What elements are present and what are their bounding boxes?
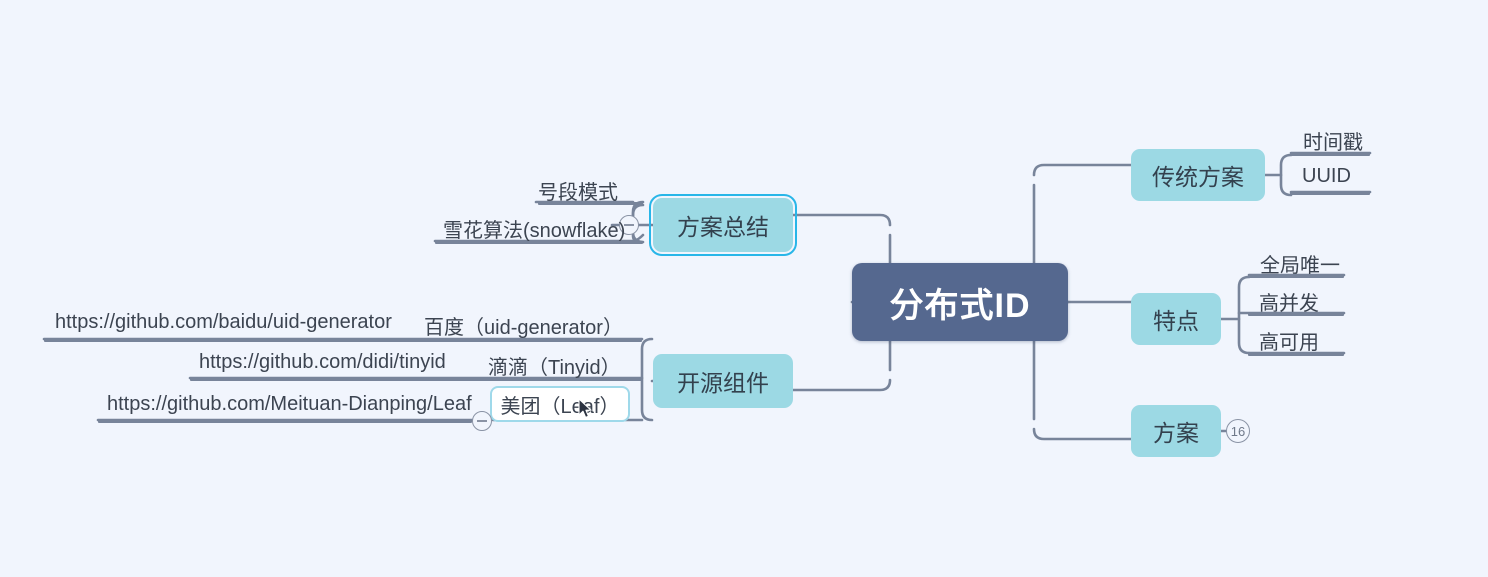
leaf-underline-global-unique [1248,275,1344,278]
branch-node-solutions-label: 方案 [1153,414,1199,448]
branch-node-traditional-solutions[interactable]: 传统方案 [1131,149,1265,201]
branch-node-solution-summary[interactable]: 方案总结 [653,198,793,252]
branch-node-features[interactable]: 特点 [1131,293,1221,345]
leaf-node-meituan-label: 美团（Leaf） [501,390,620,419]
minus-icon [624,224,634,226]
branch-node-traditional-solutions-label: 传统方案 [1152,158,1244,192]
leaf-underline-didi [190,378,642,381]
leaf-underline-meituan [98,420,472,423]
leaf-url-baidu-text: https://github.com/baidu/uid-generator [55,311,392,334]
leaf-node-haoduan-moshi-label: 号段模式 [538,176,618,205]
child-count-badge-solutions-value: 16 [1231,424,1245,439]
leaf-node-global-unique-label: 全局唯一 [1260,249,1340,278]
collapse-button-meituan[interactable] [472,411,492,431]
leaf-node-snowflake-label: 雪花算法(snowflake) [443,214,625,243]
leaf-underline-high-concurrency [1248,313,1344,316]
leaf-underline-snowflake [435,241,643,244]
leaf-node-uuid-label: UUID [1302,165,1351,188]
leaf-url-baidu[interactable]: https://github.com/baidu/uid-generator [55,311,392,334]
leaf-underline-high-availability [1248,353,1344,356]
leaf-underline-baidu [44,339,642,342]
leaf-node-snowflake[interactable]: 雪花算法(snowflake) [443,214,625,243]
branch-node-solution-summary-label: 方案总结 [677,208,769,242]
root-node-label: 分布式ID [890,278,1031,327]
minus-icon [477,420,487,422]
leaf-node-high-availability[interactable]: 高可用 [1259,326,1319,355]
leaf-underline-timestamp [1290,153,1370,156]
leaf-node-baidu-label: 百度（uid-generator） [424,311,623,340]
branch-node-features-label: 特点 [1153,302,1199,336]
leaf-node-high-availability-label: 高可用 [1259,326,1319,355]
root-node[interactable]: 分布式ID [852,263,1068,341]
leaf-underline-haoduan-moshi [538,202,643,205]
leaf-node-high-concurrency-label: 高并发 [1259,287,1319,316]
leaf-node-global-unique[interactable]: 全局唯一 [1260,249,1340,278]
child-count-badge-solutions[interactable]: 16 [1226,419,1250,443]
branch-node-solutions[interactable]: 方案 [1131,405,1221,457]
leaf-node-meituan[interactable]: 美团（Leaf） [490,386,630,422]
leaf-node-timestamp-label: 时间戳 [1303,126,1363,155]
leaf-node-haoduan-moshi[interactable]: 号段模式 [538,176,618,205]
branch-node-opensource-components[interactable]: 开源组件 [653,354,793,408]
leaf-url-didi-text: https://github.com/didi/tinyid [199,351,446,374]
leaf-node-uuid[interactable]: UUID [1302,165,1351,188]
leaf-node-didi[interactable]: 滴滴（Tinyid） [488,351,621,380]
leaf-url-meituan-text: https://github.com/Meituan-Dianping/Leaf [107,393,472,416]
branch-node-opensource-components-label: 开源组件 [677,364,769,398]
leaf-node-timestamp[interactable]: 时间戳 [1303,126,1363,155]
leaf-url-meituan[interactable]: https://github.com/Meituan-Dianping/Leaf [107,393,472,416]
leaf-underline-uuid [1290,192,1370,195]
mindmap-canvas[interactable]: 分布式ID 方案总结 号段模式 雪花算法(snowflake) 开源组件 htt… [0,0,1488,577]
leaf-node-didi-label: 滴滴（Tinyid） [488,351,621,380]
leaf-node-baidu[interactable]: 百度（uid-generator） [424,311,623,340]
leaf-node-high-concurrency[interactable]: 高并发 [1259,287,1319,316]
leaf-url-didi[interactable]: https://github.com/didi/tinyid [199,351,446,374]
